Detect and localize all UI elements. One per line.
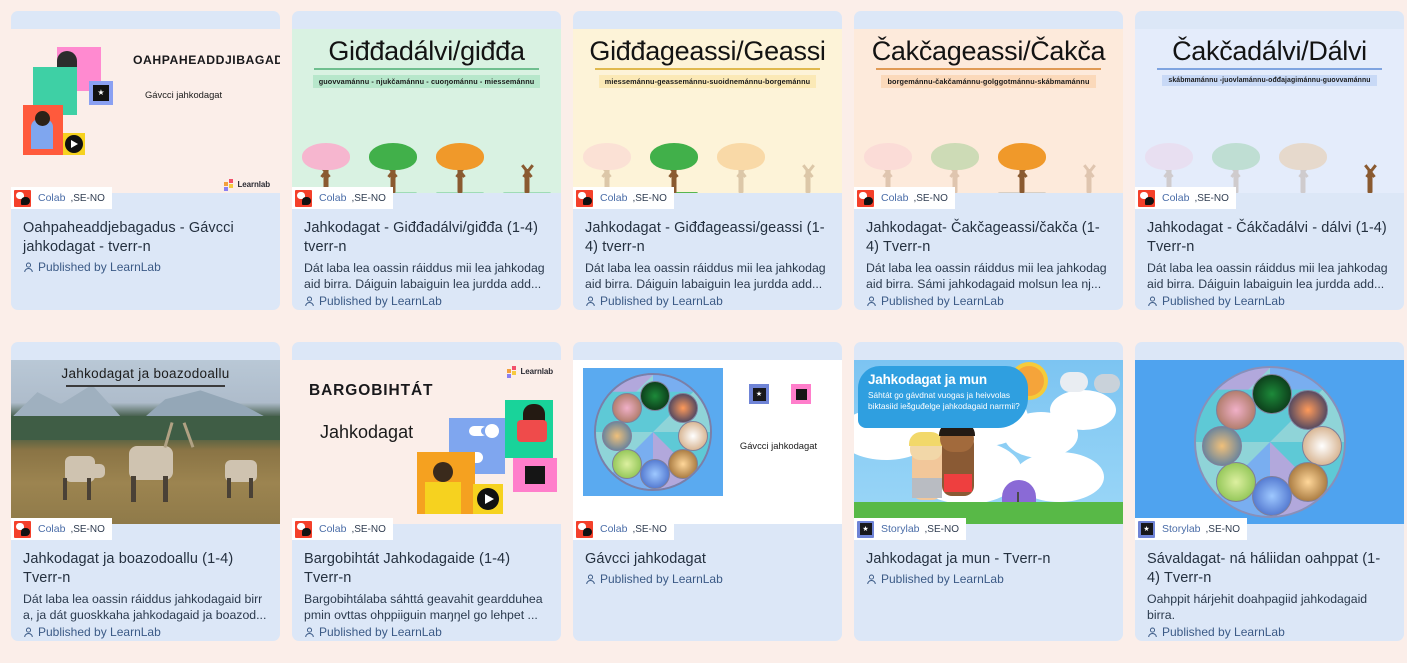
person-icon — [866, 296, 877, 307]
card-description: Dát laba lea oassin ráiddus mii lea jahk… — [1147, 260, 1392, 292]
publisher-text: Published by LearnLab — [319, 625, 442, 639]
illustration-collage — [417, 400, 557, 518]
thumbnail-months: guovvamánnu - njukčamánnu - cuoŋománnu -… — [313, 75, 541, 88]
season-trees-illustration — [292, 96, 561, 194]
language-tag: ,SE-NO — [351, 193, 385, 204]
publisher-text: Published by LearnLab — [600, 572, 723, 586]
resource-card-grid: ★ OAHPAHEADDJIBAGADUS Gávcci jahkodagat — [0, 0, 1407, 641]
card-body: Jahkodagat - Čákčadálvi - dálvi (1-4) Tv… — [1135, 209, 1404, 310]
card-publisher: Published by LearnLab — [585, 294, 830, 308]
language-tag: ,SE-NO — [632, 193, 666, 204]
thumbnail-subheading: Gávcci jahkodagat — [145, 89, 222, 100]
resource-card[interactable]: Jahkodagat ja mun Sáhtát go gávdnat vuog… — [854, 342, 1123, 641]
source-name: Colab — [600, 192, 627, 204]
resource-card[interactable]: ★ OAHPAHEADDJIBAGADUS Gávcci jahkodagat — [11, 11, 280, 310]
thumbnail-banner: Jahkodagat ja mun Sáhtát go gávdnat vuog… — [858, 366, 1028, 428]
card-publisher: Published by LearnLab — [1147, 294, 1392, 308]
thumbnail-subheading: Sáhtát go gávdnat vuogas ja heivvolas bi… — [868, 390, 1026, 411]
publisher-text: Published by LearnLab — [319, 294, 442, 308]
card-title: Oahpaheaddjebagadus - Gávcci jahkodagat … — [23, 219, 268, 257]
seasons-wheel-illustration — [583, 368, 723, 496]
card-title: Jahkodagat - Giđđadálvi/giđđa (1-4) tver… — [304, 219, 549, 257]
card-thumbnail: Jahkodagat ja boazodoallu — [11, 360, 280, 524]
colab-icon — [14, 190, 31, 207]
source-name: Colab — [319, 192, 346, 204]
source-name: Colab — [38, 523, 65, 535]
thumbnail-heading: Čakčadálvi/Dálvi — [1172, 36, 1367, 66]
colab-icon — [576, 521, 593, 538]
colab-icon — [14, 521, 31, 538]
thumbnail-heading: Jahkodagat ja boazodoallu — [11, 366, 280, 381]
colab-icon — [857, 190, 874, 207]
colab-icon — [295, 521, 312, 538]
learnlab-logo: Learnlab — [224, 179, 270, 189]
thumbnail-subheading: Jahkodagat — [320, 422, 413, 443]
storylab-icon: ★ — [749, 384, 769, 404]
source-badge[interactable]: Colab ,SE-NO — [292, 518, 393, 540]
card-title: Gávcci jahkodagat — [585, 550, 830, 569]
card-thumbnail: Jahkodagat ja mun Sáhtát go gávdnat vuog… — [854, 360, 1123, 524]
card-body: Sávaldagat- ná háliidan oahppat (1-4) Tv… — [1135, 540, 1404, 641]
thumbnail-heading: OAHPAHEADDJIBAGADUS — [133, 53, 280, 67]
source-badge[interactable]: Colab ,SE-NO — [1135, 187, 1236, 209]
card-thumbnail: Giđđageassi/Geassi miessemánnu-geassemán… — [573, 29, 842, 193]
resource-card[interactable]: Čakčageassi/Čakča borgemánnu-čakčamánnu-… — [854, 11, 1123, 310]
person-icon — [304, 296, 315, 307]
card-title: Jahkodagat- Čakčageassi/čakča (1-4) Tver… — [866, 219, 1111, 257]
card-publisher: Published by LearnLab — [585, 572, 830, 586]
reindeer-photo: Jahkodagat ja boazodoallu — [11, 360, 280, 524]
card-title: Jahkodagat - Čákčadálvi - dálvi (1-4) Tv… — [1147, 219, 1392, 257]
colab-icon — [1138, 190, 1155, 207]
card-title: Jahkodagat ja boazodoallu (1-4) Tverr-n — [23, 550, 268, 588]
card-thumbnail — [1135, 360, 1404, 524]
language-tag: ,SE-NO — [913, 193, 947, 204]
thumbnail-caption: Gávcci jahkodagat — [723, 440, 834, 451]
source-badge[interactable]: Colab ,SE-NO — [292, 187, 393, 209]
source-badge[interactable]: ★ Storylab ,SE-NO — [854, 518, 966, 540]
colab-icon — [295, 190, 312, 207]
card-thumbnail: Čakčadálvi/Dálvi skábmamánnu -juovlamánn… — [1135, 29, 1404, 193]
language-tag: ,SE-NO — [632, 524, 666, 535]
learnlab-wordmark: Learnlab — [237, 180, 270, 189]
thumbnail-months: miessemánnu-geassemánnu-suoidnemánnu-bor… — [599, 75, 816, 88]
card-thumbnail: BARGOBIHTÁT Jahkodagat Learnlab — [292, 360, 561, 524]
resource-card[interactable]: Giđđadálvi/giđđa guovvamánnu - njukčamán… — [292, 11, 561, 310]
card-publisher: Published by LearnLab — [304, 625, 549, 639]
source-badge[interactable]: Colab ,SE-NO — [11, 187, 112, 209]
source-badge[interactable]: Colab ,SE-NO — [573, 187, 674, 209]
card-description: Oahppit hárjehit doahpagiid jahkodagaid … — [1147, 591, 1392, 623]
card-publisher: Published by LearnLab — [304, 294, 549, 308]
source-badge[interactable]: Colab ,SE-NO — [11, 518, 112, 540]
card-body: Oahpaheaddjebagadus - Gávcci jahkodagat … — [11, 209, 280, 310]
language-tag: ,SE-NO — [70, 524, 104, 535]
publisher-text: Published by LearnLab — [1162, 294, 1285, 308]
source-name: Colab — [600, 523, 627, 535]
person-icon — [1147, 627, 1158, 638]
publisher-text: Published by LearnLab — [881, 572, 1004, 586]
season-trees-illustration — [573, 96, 842, 194]
publisher-text: Published by LearnLab — [38, 260, 161, 274]
person-icon — [23, 627, 34, 638]
publisher-text: Published by LearnLab — [600, 294, 723, 308]
thumbnail-app-icons: ★ — [749, 384, 811, 404]
card-body: Gávcci jahkodagat Published by LearnLab — [573, 540, 842, 641]
card-thumbnail: Čakčageassi/Čakča borgemánnu-čakčamánnu-… — [854, 29, 1123, 193]
card-body: Jahkodagat ja mun - Tverr-n Published by… — [854, 540, 1123, 641]
storylab-icon: ★ — [1138, 521, 1155, 538]
language-tag: ,SE-NO — [70, 193, 104, 204]
card-title: Jahkodagat - Giđđageassi/geassi (1-4) tv… — [585, 219, 830, 257]
mentimeter-icon — [791, 384, 811, 404]
language-tag: ,SE-NO — [1206, 524, 1240, 535]
publisher-text: Published by LearnLab — [881, 294, 1004, 308]
learnlab-mark-icon — [507, 366, 517, 376]
card-description: Dát laba lea oassin ráiddus mii lea jahk… — [866, 260, 1111, 292]
card-body: Jahkodagat - Giđđadálvi/giđđa (1-4) tver… — [292, 209, 561, 310]
card-description: Dát laba lea oassin ráiddus mii lea jahk… — [304, 260, 549, 292]
card-description: Bargobihtálaba sáhttá geavahit geardduhe… — [304, 591, 549, 623]
thumbnail-heading: BARGOBIHTÁT — [309, 382, 433, 400]
language-tag: ,SE-NO — [1194, 193, 1228, 204]
card-body: Jahkodagat - Giđđageassi/geassi (1-4) tv… — [573, 209, 842, 310]
publisher-text: Published by LearnLab — [38, 625, 161, 639]
card-publisher: Published by LearnLab — [23, 260, 268, 274]
source-name: Storylab — [1162, 523, 1201, 535]
person-icon — [866, 574, 877, 585]
source-badge[interactable]: ★ Storylab ,SE-NO — [1135, 518, 1247, 540]
card-title: Bargobihtát Jahkodagaide (1-4) Tverr-n — [304, 550, 549, 588]
card-publisher: Published by LearnLab — [23, 625, 268, 639]
card-title: Jahkodagat ja mun - Tverr-n — [866, 550, 1111, 569]
person-icon — [585, 296, 596, 307]
storylab-icon: ★ — [857, 521, 874, 538]
card-thumbnail: ★ Gávcci jahkodagat — [573, 360, 842, 524]
source-name: Storylab — [881, 523, 920, 535]
thumbnail-heading: Čakčageassi/Čakča — [872, 36, 1106, 66]
thumbnail-heading: Giđđageassi/Geassi — [589, 36, 825, 66]
resource-card[interactable]: Čakčadálvi/Dálvi skábmamánnu -juovlamánn… — [1135, 11, 1404, 310]
card-body: Jahkodagat- Čakčageassi/čakča (1-4) Tver… — [854, 209, 1123, 310]
card-thumbnail: ★ OAHPAHEADDJIBAGADUS Gávcci jahkodagat — [11, 29, 280, 193]
season-trees-illustration — [854, 96, 1123, 194]
person-icon — [1147, 296, 1158, 307]
colab-icon — [576, 190, 593, 207]
resource-card[interactable]: ★ Gávcci jahkodagat Colab ,SE-NO Gávcci … — [573, 342, 842, 641]
thumbnail-months: borgemánnu-čakčamánnu-golggotmánnu-skábm… — [881, 75, 1095, 88]
resource-card[interactable]: BARGOBIHTÁT Jahkodagat Learnlab — [292, 342, 561, 641]
thumbnail-months: skábmamánnu -juovlamánnu-ođđajagimánnu-g… — [1162, 75, 1376, 86]
source-badge[interactable]: Colab ,SE-NO — [573, 518, 674, 540]
person-icon — [23, 262, 34, 273]
card-publisher: Published by LearnLab — [866, 294, 1111, 308]
source-name: Colab — [1162, 192, 1189, 204]
thumbnail-heading: Jahkodagat ja mun — [868, 372, 987, 387]
card-title: Sávaldagat- ná háliidan oahppat (1-4) Tv… — [1147, 550, 1392, 588]
card-publisher: Published by LearnLab — [866, 572, 1111, 586]
resource-card[interactable]: Giđđageassi/Geassi miessemánnu-geassemán… — [573, 11, 842, 310]
person-icon — [304, 627, 315, 638]
kids-illustration: Jahkodagat ja mun Sáhtát go gávdnat vuog… — [854, 360, 1123, 524]
learnlab-mark-icon — [224, 179, 234, 189]
source-name: Colab — [38, 192, 65, 204]
card-publisher: Published by LearnLab — [1147, 625, 1392, 639]
card-description: Dát laba lea oassin ráiddus mii lea jahk… — [585, 260, 830, 292]
season-trees-illustration — [1135, 94, 1404, 194]
seasons-wheel-illustration — [1135, 360, 1404, 524]
card-description: Dát laba lea oassin ráiddus jahkodagaid … — [23, 591, 268, 623]
card-thumbnail: Giđđadálvi/giđđa guovvamánnu - njukčamán… — [292, 29, 561, 193]
thumbnail-heading: Giđđadálvi/giđđa — [328, 36, 524, 66]
resource-card[interactable]: Jahkodagat ja boazodoallu Colab ,SE-NO J… — [11, 342, 280, 641]
card-body: Jahkodagat ja boazodoallu (1-4) Tverr-n … — [11, 540, 280, 641]
resource-card[interactable]: ★ Storylab ,SE-NO Sávaldagat- ná háliida… — [1135, 342, 1404, 641]
learnlab-wordmark: Learnlab — [520, 367, 553, 376]
publisher-text: Published by LearnLab — [1162, 625, 1285, 639]
source-name: Colab — [881, 192, 908, 204]
card-body: Bargobihtát Jahkodagaide (1-4) Tverr-n B… — [292, 540, 561, 641]
learnlab-logo: Learnlab — [507, 366, 553, 376]
illustration-collage: ★ — [23, 47, 123, 155]
language-tag: ,SE-NO — [925, 524, 959, 535]
source-name: Colab — [319, 523, 346, 535]
person-icon — [585, 574, 596, 585]
language-tag: ,SE-NO — [351, 524, 385, 535]
source-badge[interactable]: Colab ,SE-NO — [854, 187, 955, 209]
